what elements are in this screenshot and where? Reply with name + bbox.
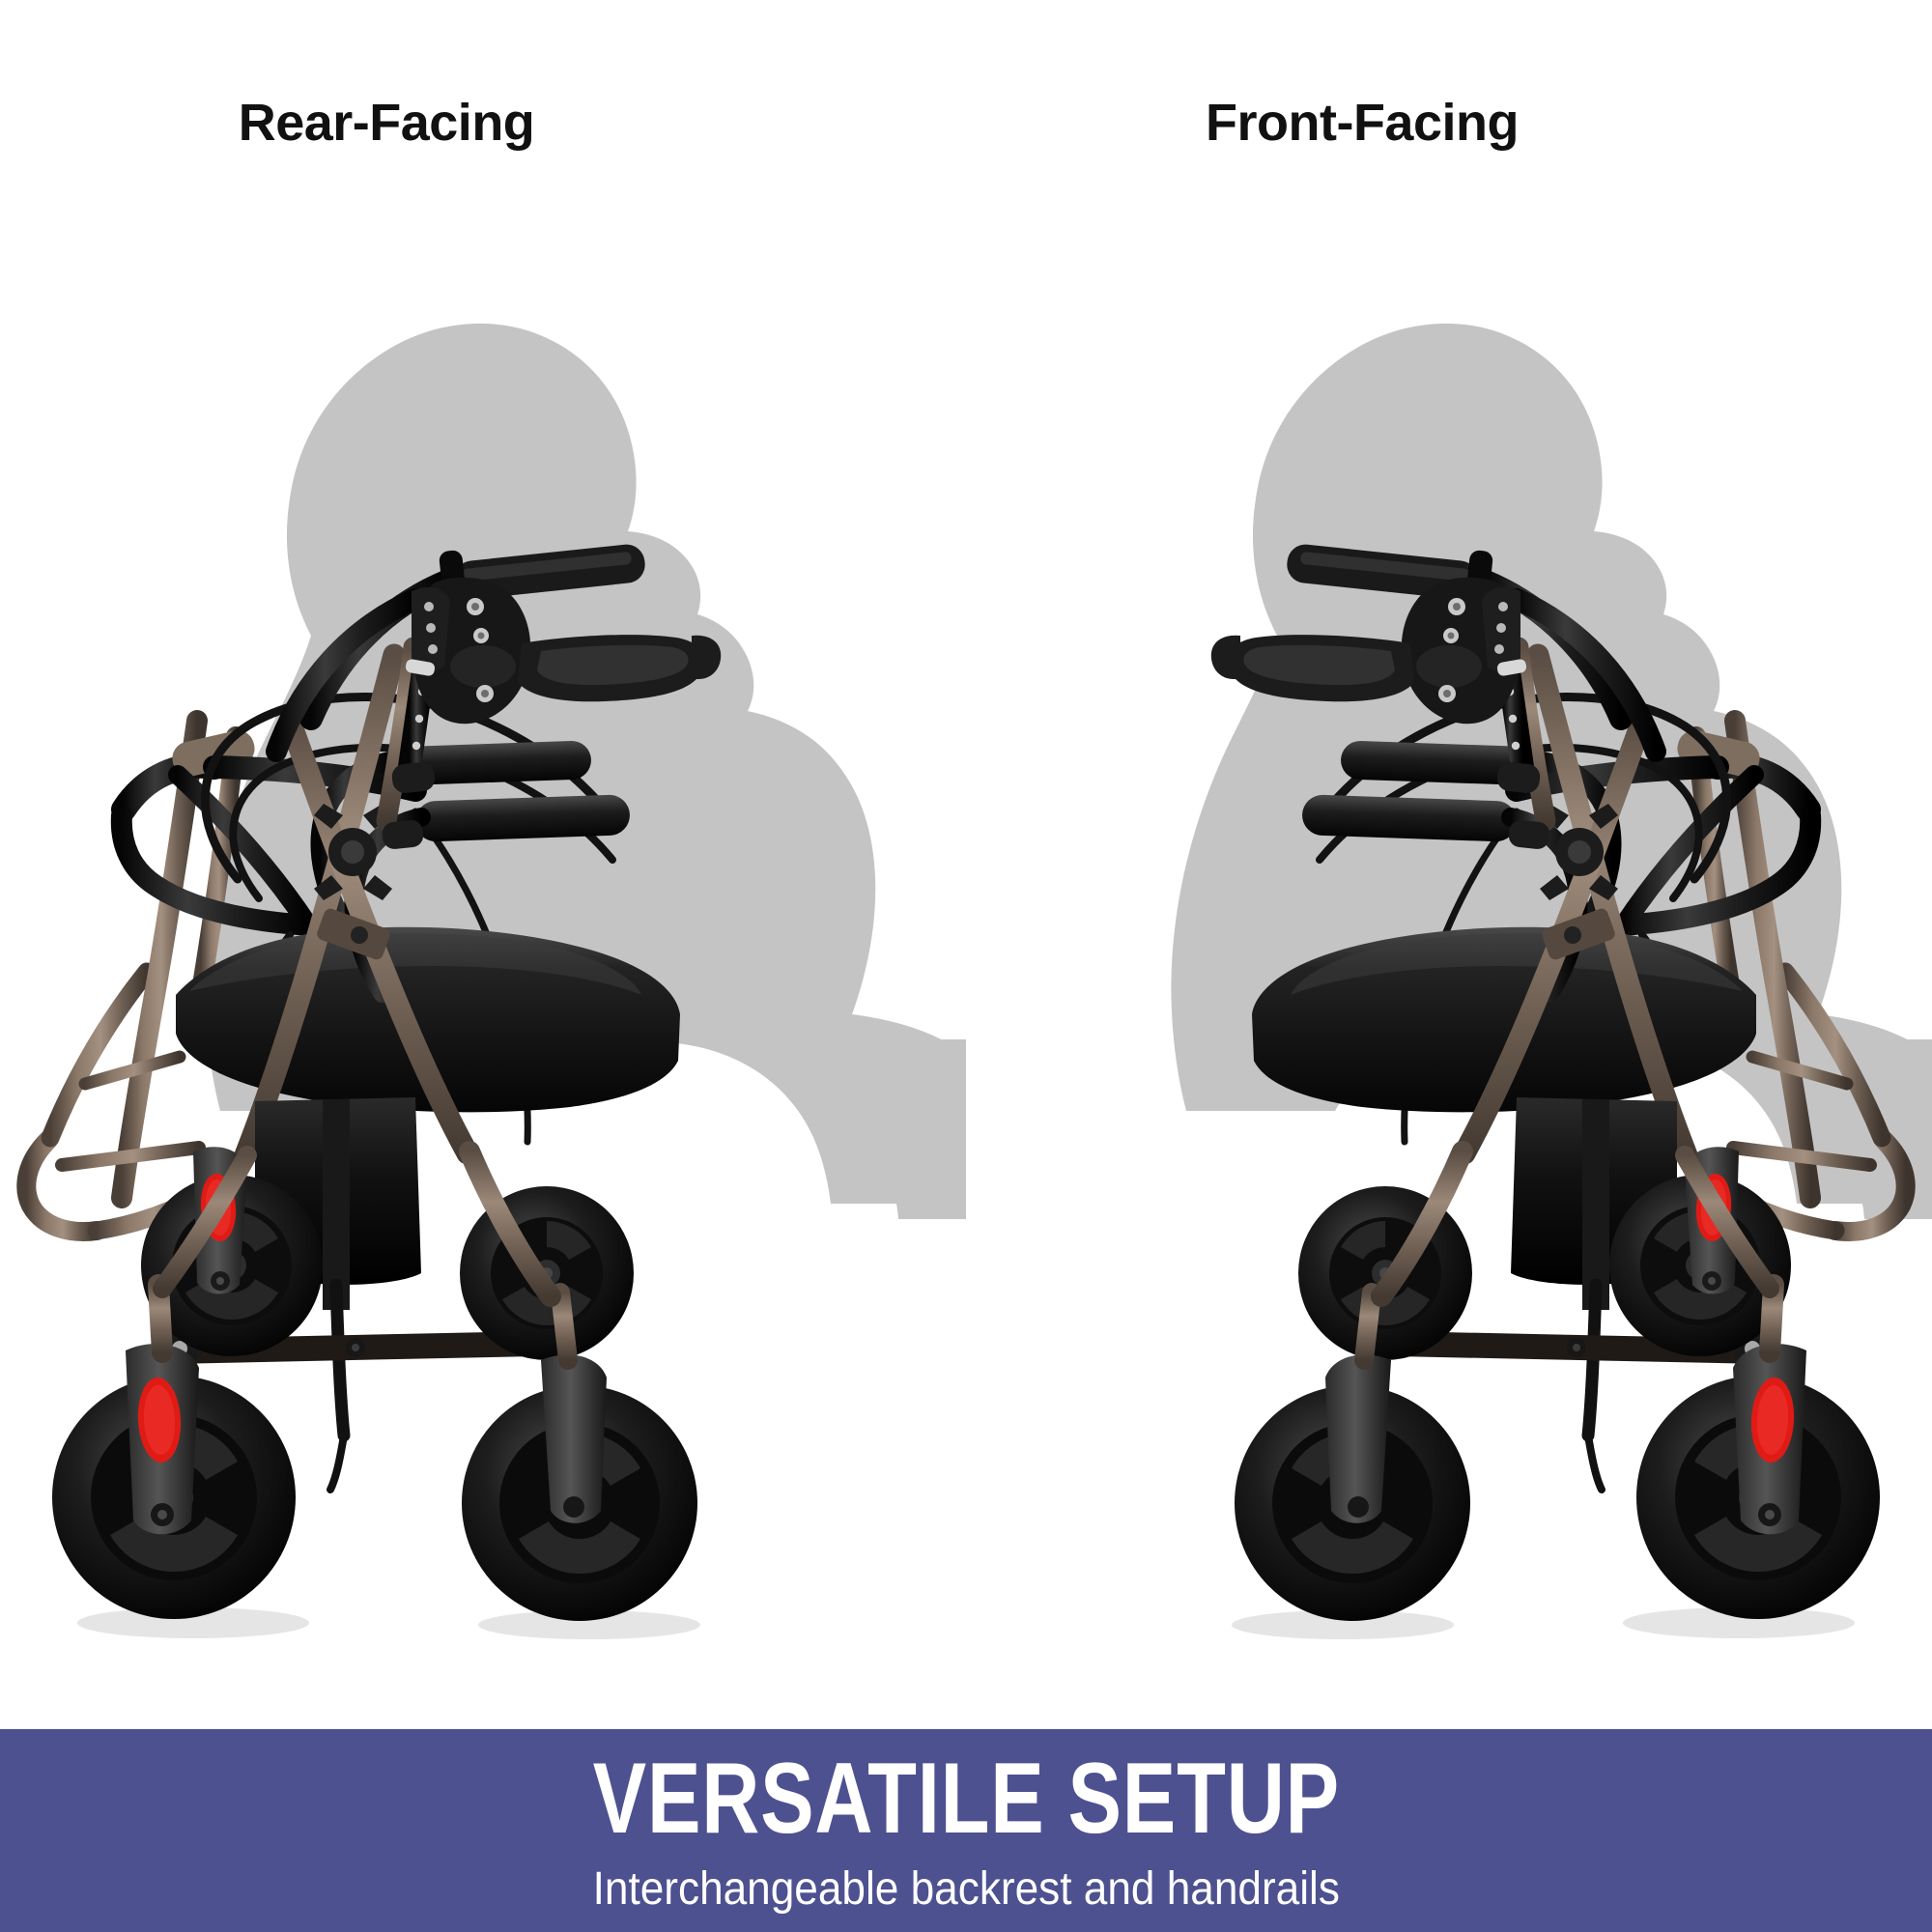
brake-lever[interactable] (1211, 635, 1414, 701)
panel-label-rear-facing: Rear-Facing (48, 93, 724, 153)
product-feature-image: Rear-Facing Front-Facing (0, 0, 1932, 1932)
feature-banner: VERSATILE SETUP Interchangeable backrest… (0, 1729, 1932, 1932)
handrail-pad-lower (1301, 794, 1517, 842)
panel-label-front-facing: Front-Facing (1024, 93, 1700, 153)
banner-subtitle: Interchangeable backrest and handrails (592, 1866, 1339, 1913)
banner-title: VERSATILE SETUP (592, 1748, 1339, 1849)
product-scene-rear-facing (0, 145, 966, 1729)
floor-shadow (1232, 1607, 1855, 1639)
handrail-pad-lower (414, 794, 630, 842)
product-scene-front-facing (966, 145, 1932, 1729)
floor-shadow (77, 1607, 700, 1639)
